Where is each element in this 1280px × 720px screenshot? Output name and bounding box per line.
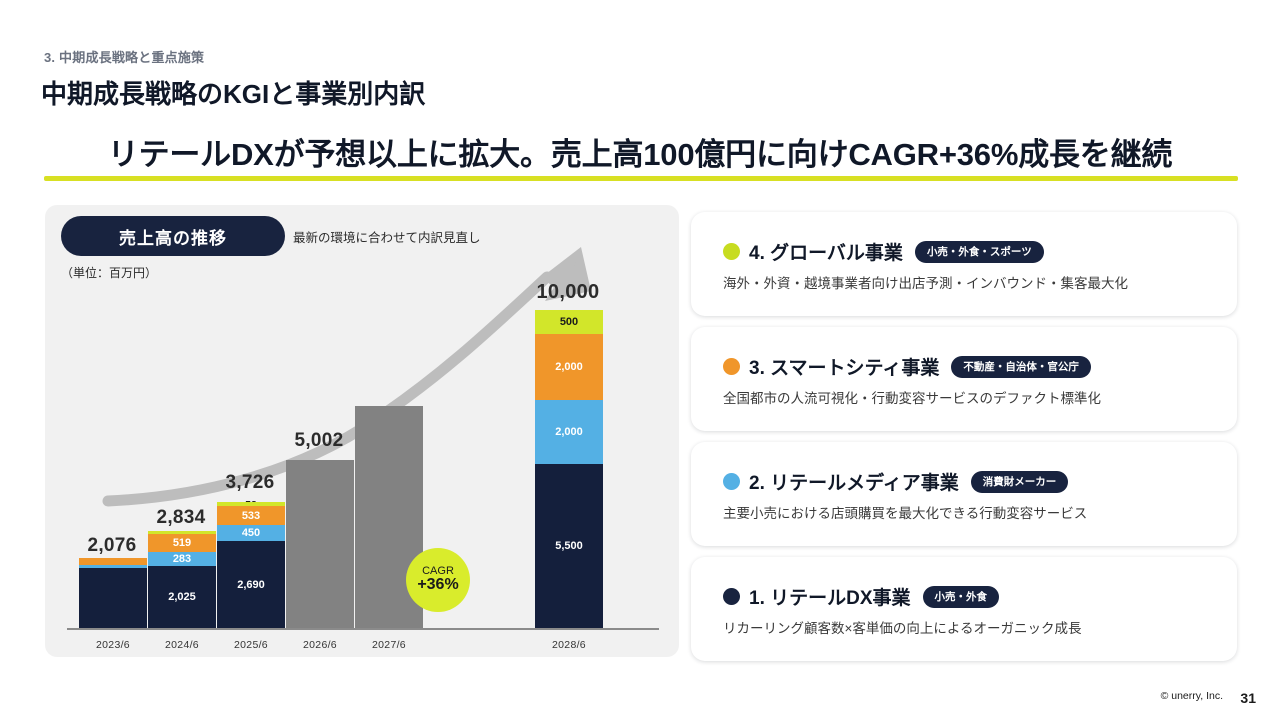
x-tick-2027: 2027/6 xyxy=(336,639,442,651)
bar-segment-media-2024: 283 xyxy=(148,552,216,566)
bullet-dot-icon xyxy=(723,243,740,260)
bar-2023 xyxy=(79,558,147,628)
bullet-dot-icon xyxy=(723,358,740,375)
card-header: 3. スマートシティ事業 不動産・自治体・官公庁 xyxy=(723,353,1091,380)
card-chip: 小売・外食・スポーツ xyxy=(915,241,1044,263)
card-chip: 小売・外食 xyxy=(923,586,1000,608)
bar-segment-smartcity-2025: 533 xyxy=(217,506,285,525)
bar-segment-smartcity-2028: 2,000 xyxy=(535,334,603,400)
bar-2024: 519 283 2,025 xyxy=(148,531,216,628)
chart-panel: 売上高の推移 最新の環境に合わせて内訳見直し （単位：百万円） 2,076 20… xyxy=(45,205,679,657)
page-number: 31 xyxy=(1240,690,1256,706)
accent-rule xyxy=(44,176,1238,181)
bar-segment-retaildx-2023 xyxy=(79,568,147,628)
section-eyebrow: 3. 中期成長戦略と重点施策 xyxy=(44,47,204,66)
business-card-smartcity[interactable]: 3. スマートシティ事業 不動産・自治体・官公庁 全国都市の人流可視化・行動変容… xyxy=(691,327,1237,431)
bar-segment-plan-2026 xyxy=(286,460,354,628)
bar-total-2028: 10,000 xyxy=(493,281,643,304)
headline: リテールDXが予想以上に拡大。売上高100億円に向けCAGR+36%成長を継続 xyxy=(0,129,1280,174)
bar-segment-media-2028: 2,000 xyxy=(535,400,603,464)
bar-segment-smartcity-2023 xyxy=(79,558,147,565)
bar-segment-retaildx-2028: 5,500 xyxy=(535,464,603,628)
bar-segment-media-2025: 450 xyxy=(217,525,285,541)
cagr-value: +36% xyxy=(417,577,458,594)
card-description: 全国都市の人流可視化・行動変容サービスのデファクト標準化 xyxy=(723,387,1101,407)
x-axis-line xyxy=(67,628,659,630)
business-card-retaildx[interactable]: 1. リテールDX事業 小売・外食 リカーリング顧客数×客単価の向上によるオーガ… xyxy=(691,557,1237,661)
card-title: 1. リテールDX事業 xyxy=(749,583,911,610)
chart-note: 最新の環境に合わせて内訳見直し xyxy=(293,227,481,246)
bar-2025: 533 450 2,690 xyxy=(217,502,285,628)
bar-segment-retaildx-2024: 2,025 xyxy=(148,566,216,628)
bar-2028: 500 2,000 2,000 5,500 xyxy=(535,310,603,628)
bar-2026 xyxy=(286,460,354,628)
card-header: 2. リテールメディア事業 消費財メーカー xyxy=(723,468,1068,495)
card-chip: 不動産・自治体・官公庁 xyxy=(951,356,1091,378)
bar-segment-retaildx-2025: 2,690 xyxy=(217,541,285,628)
card-chip: 消費財メーカー xyxy=(971,471,1069,493)
business-card-global[interactable]: 4. グローバル事業 小売・外食・スポーツ 海外・外資・越境事業者向け出店予測・… xyxy=(691,212,1237,316)
card-title: 3. スマートシティ事業 xyxy=(749,353,939,380)
x-tick-2028: 2028/6 xyxy=(516,639,622,651)
cagr-badge: CAGR +36% xyxy=(406,548,470,612)
bullet-dot-icon xyxy=(723,588,740,605)
bullet-dot-icon xyxy=(723,473,740,490)
business-cards-list: 4. グローバル事業 小売・外食・スポーツ 海外・外資・越境事業者向け出店予測・… xyxy=(691,212,1237,672)
chart-title-badge: 売上高の推移 xyxy=(61,216,285,256)
business-card-retailmedia[interactable]: 2. リテールメディア事業 消費財メーカー 主要小売における店頭購買を最大化でき… xyxy=(691,442,1237,546)
card-title: 2. リテールメディア事業 xyxy=(749,468,959,495)
card-header: 1. リテールDX事業 小売・外食 xyxy=(723,583,999,610)
slide: 3. 中期成長戦略と重点施策 中期成長戦略のKGIと事業別内訳 リテールDXが予… xyxy=(0,0,1280,720)
card-description: 海外・外資・越境事業者向け出店予測・インバウンド・集客最大化 xyxy=(723,272,1128,292)
card-title: 4. グローバル事業 xyxy=(749,238,903,265)
card-header: 4. グローバル事業 小売・外食・スポーツ xyxy=(723,238,1044,265)
bar-segment-smartcity-2024: 519 xyxy=(148,534,216,552)
copyright: © unerry, Inc. xyxy=(1161,690,1223,702)
chart-unit-label: （単位：百万円） xyxy=(61,264,157,281)
bar-segment-global-2028: 500 xyxy=(535,310,603,334)
page-title: 中期成長戦略のKGIと事業別内訳 xyxy=(41,74,425,111)
card-description: リカーリング顧客数×客単価の向上によるオーガニック成長 xyxy=(723,617,1081,637)
card-description: 主要小売における店頭購買を最大化できる行動変容サービス xyxy=(723,502,1087,522)
